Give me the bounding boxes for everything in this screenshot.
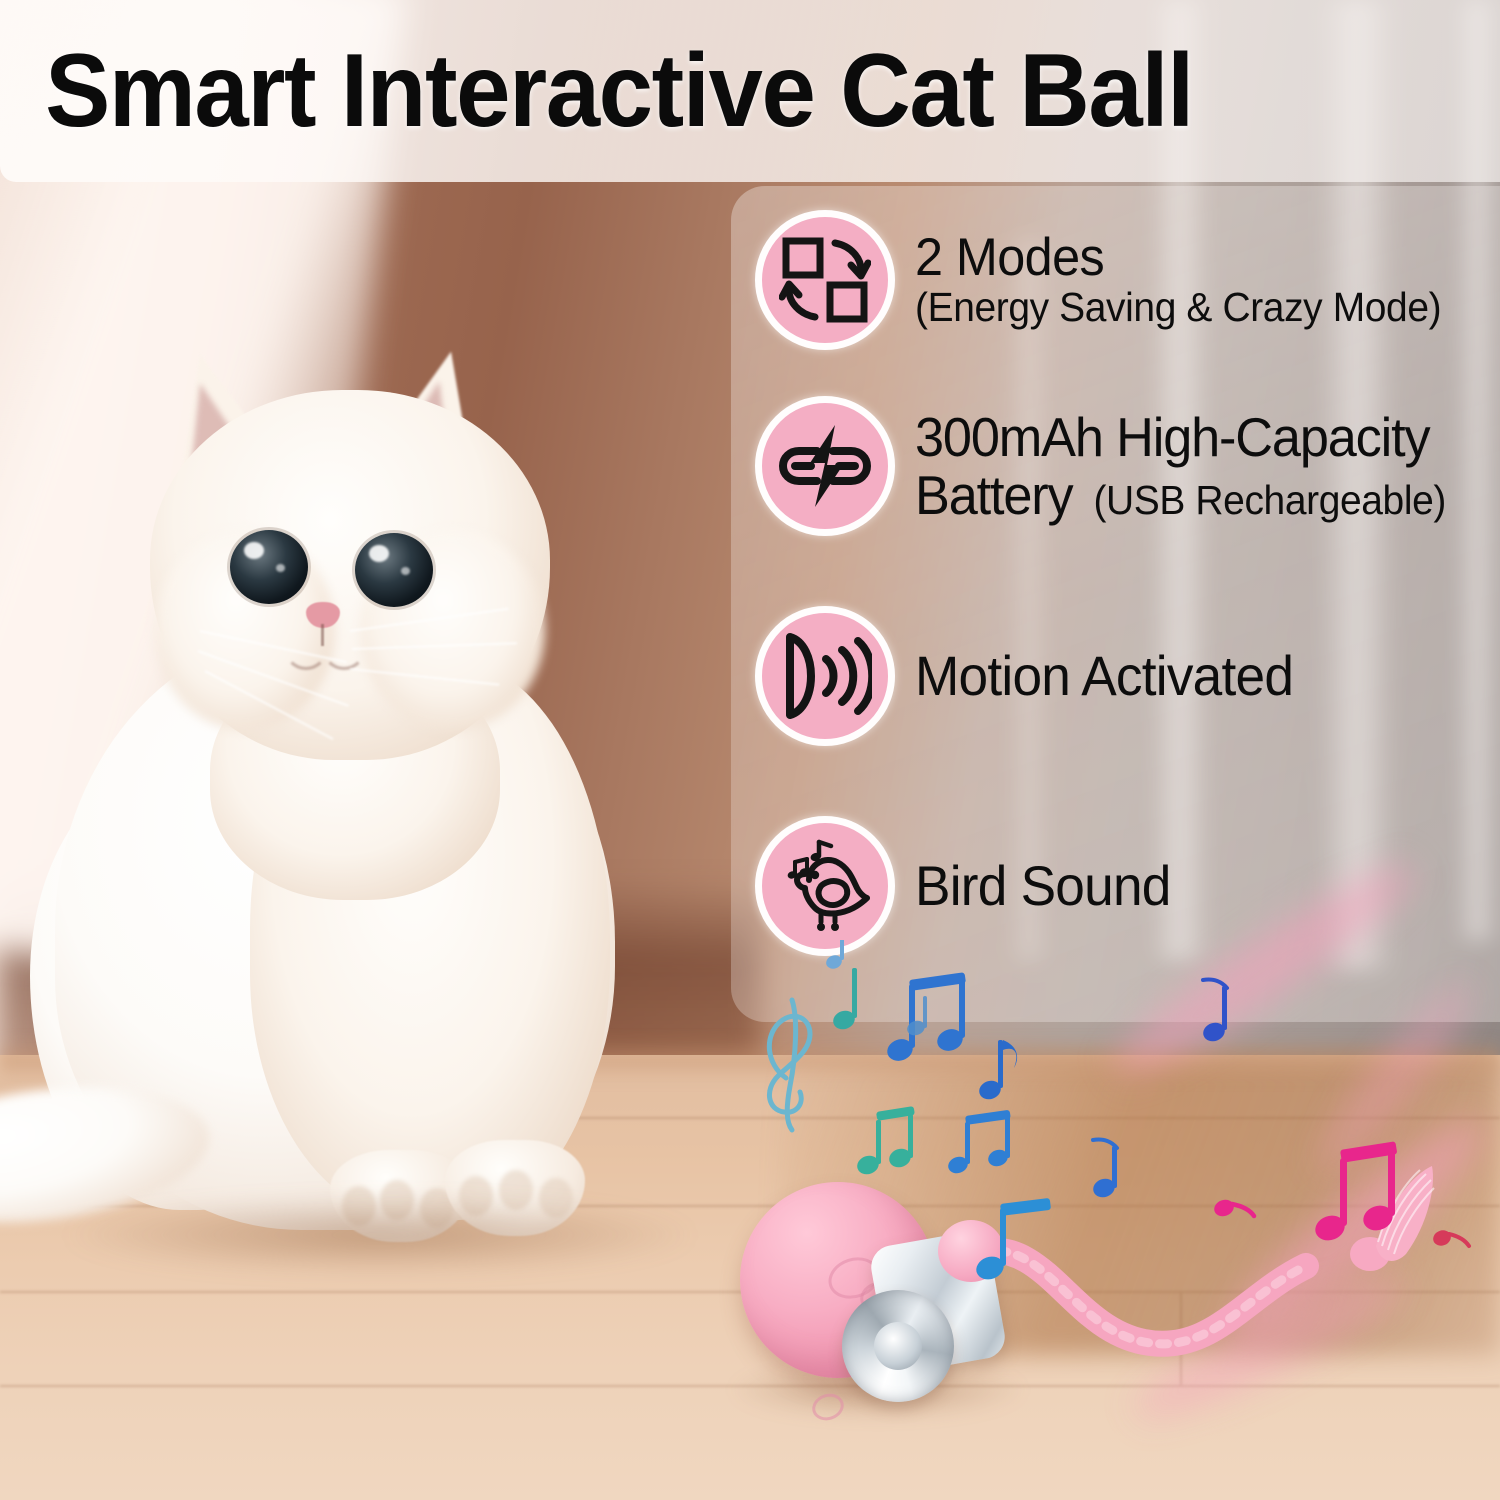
feature-item-battery: 300mAh High-Capacity Battery (USB Rechar… <box>755 396 1474 536</box>
motion-sensor-waves-icon <box>755 606 895 746</box>
cat-eye-right <box>355 533 433 607</box>
feature-title: 2 Modes <box>915 230 1441 286</box>
two-modes-swap-icon <box>755 210 895 350</box>
feature-subtitle: (USB Rechargeable) <box>1093 479 1446 522</box>
feature-item-bird: Bird Sound <box>755 816 1184 956</box>
battery-charging-bolt-icon <box>755 396 895 536</box>
feature-text-bird: Bird Sound <box>915 856 1184 915</box>
feature-item-modes: 2 Modes (Energy Saving & Crazy Mode) <box>755 210 1469 350</box>
cat-photo-subject <box>0 330 780 1270</box>
feature-title: 300mAh High-Capacity <box>915 408 1446 466</box>
product-marketing-image: Smart Interactive Cat Ball 2 Mode <box>0 0 1500 1500</box>
ball-metal-wheel <box>842 1290 954 1402</box>
feature-subtitle: (Energy Saving & Crazy Mode) <box>915 286 1441 329</box>
product-cat-ball <box>700 1140 1500 1470</box>
cat-eye-left <box>230 530 308 604</box>
feature-text-motion: Motion Activated <box>915 646 1313 705</box>
page-title: Smart Interactive Cat Ball <box>0 39 1193 143</box>
feature-title: Motion Activated <box>915 646 1293 705</box>
feature-text-modes: 2 Modes (Energy Saving & Crazy Mode) <box>915 230 1469 330</box>
rope-tassel <box>1332 1162 1452 1292</box>
ball-pink-nub <box>938 1220 1004 1282</box>
title-banner: Smart Interactive Cat Ball <box>0 0 1500 182</box>
feature-title: Bird Sound <box>915 856 1171 915</box>
feature-title-second-line: Battery <box>915 466 1073 524</box>
feature-item-motion: Motion Activated <box>755 606 1313 746</box>
singing-bird-icon <box>755 816 895 956</box>
cat-floor-shadow <box>60 1195 700 1275</box>
feature-text-battery: 300mAh High-Capacity Battery (USB Rechar… <box>915 408 1474 525</box>
